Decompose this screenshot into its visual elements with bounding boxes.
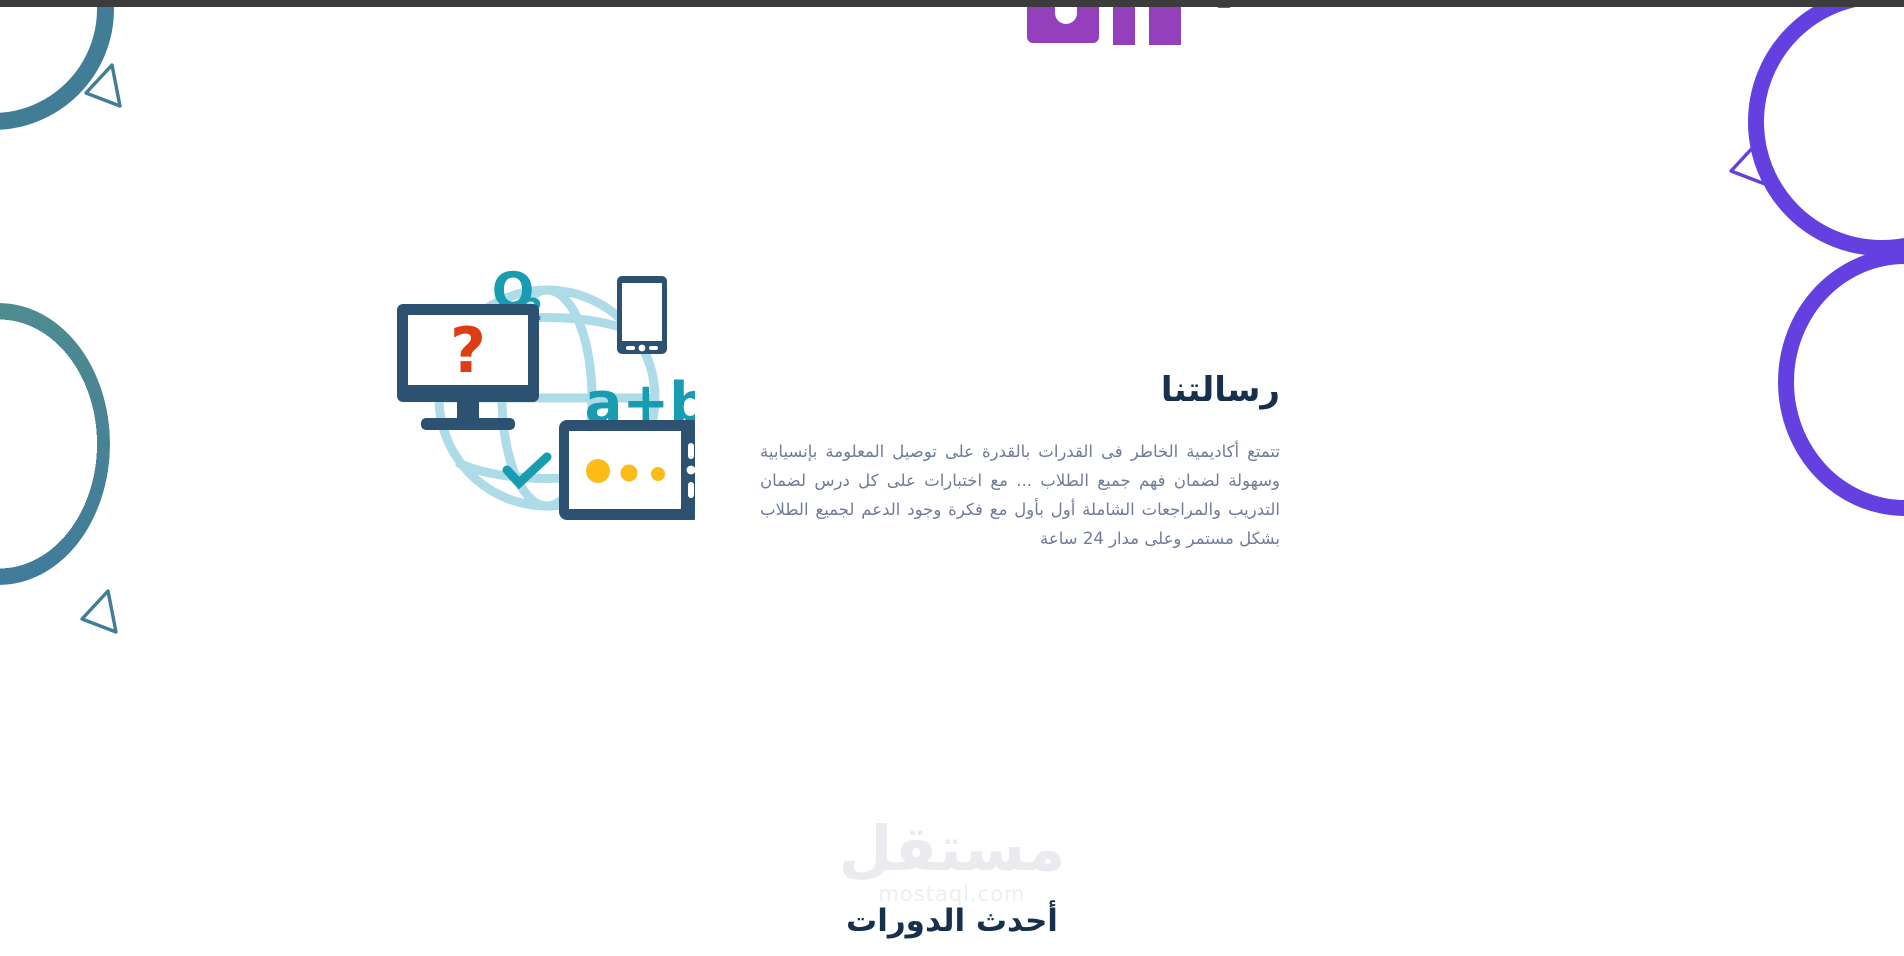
mission-body-text: تتمتع أكاديمية الخاطر فى القدرات بالقدرة… [760,437,1280,553]
section-title: أحدث الدورات [772,903,1132,940]
page-root: O 2 a+b ? [0,0,1904,956]
browser-top-bar [0,0,1904,7]
page-title: رسالتنا [760,370,1280,411]
tablet-dot-2 [621,465,638,482]
question-mark-icon: ? [450,314,486,387]
circle-bottom-right [1778,248,1904,516]
tablet-dot-3 [651,467,665,481]
latest-courses-section-header: مستقل mostaql.com أحدث الدورات [0,818,1904,956]
tablet-dot-1 [586,459,610,483]
mission-section: رسالتنا تتمتع أكاديمية الخاطر فى القدرات… [760,370,1280,553]
mostaql-watermark: مستقل mostaql.com [772,818,1132,905]
e-learning-devices-globe-illustration: O 2 a+b ? [395,250,695,540]
circle-mid-left [0,303,110,585]
triangle-top-right [1727,140,1771,188]
triangle-bottom-left [78,588,122,636]
tablet-icon [559,420,695,520]
smartphone-icon [617,276,667,354]
desktop-monitor-icon: ? [397,304,539,430]
watermark-word: مستقل [772,818,1132,880]
triangle-top-left [82,62,126,110]
circle-top-right [1748,0,1904,256]
